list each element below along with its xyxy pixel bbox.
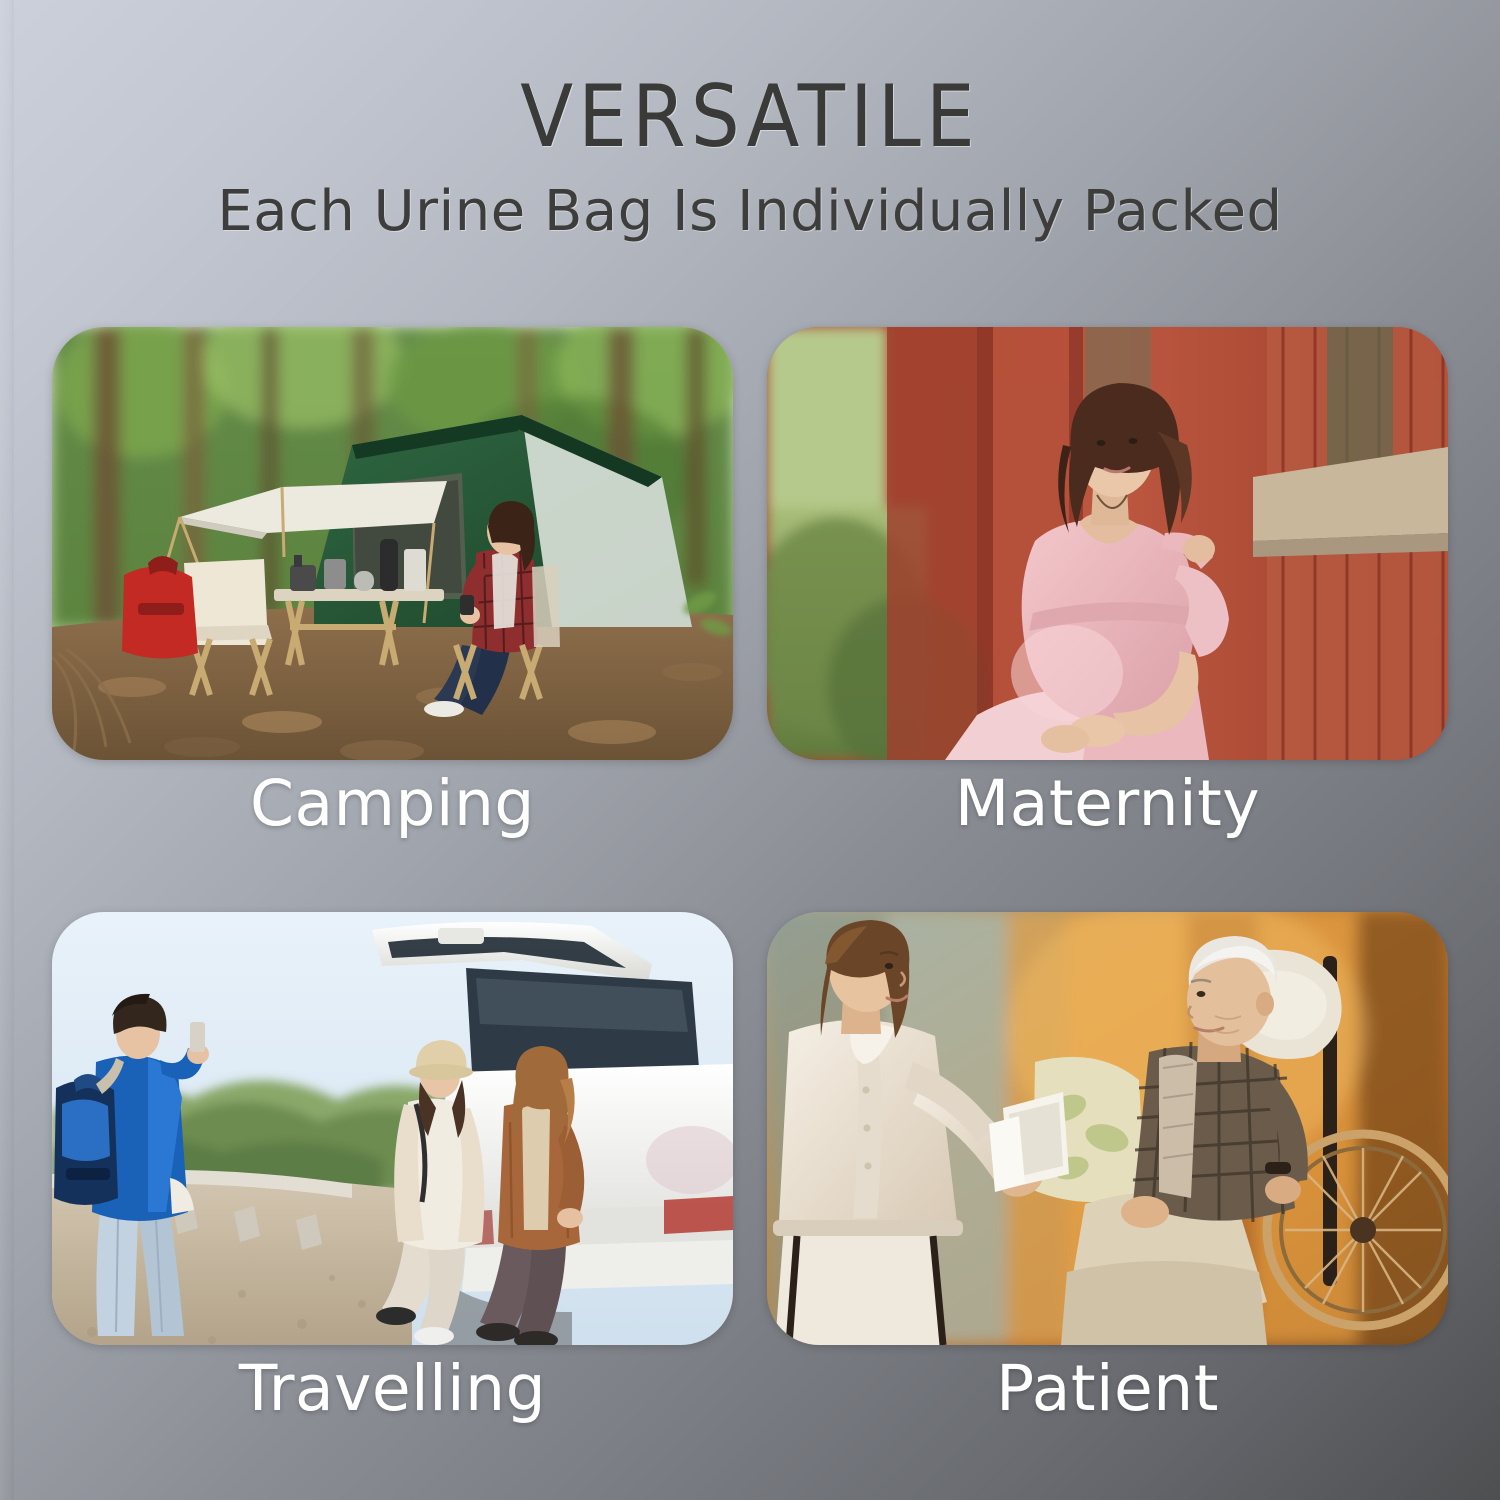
poster-root: VERSATILE Each Urine Bag Is Individually…	[0, 0, 1500, 1500]
caption-travelling: Travelling	[52, 1357, 733, 1420]
page-subtitle: Each Urine Bag Is Individually Packed	[0, 181, 1500, 243]
page-title: VERSATILE	[0, 72, 1500, 163]
header-block: VERSATILE Each Urine Bag Is Individually…	[0, 72, 1500, 243]
caption-patient: Patient	[767, 1357, 1448, 1420]
use-case-card-travelling: Travelling	[52, 912, 733, 1345]
use-case-card-maternity: Maternity	[767, 327, 1448, 760]
use-case-card-camping: Camping	[52, 327, 733, 760]
travelling-photo	[52, 912, 733, 1345]
maternity-photo	[767, 327, 1448, 760]
caption-camping: Camping	[52, 772, 733, 835]
caption-maternity: Maternity	[767, 772, 1448, 835]
use-case-card-patient: Patient	[767, 912, 1448, 1345]
use-case-grid: Camping	[52, 327, 1448, 1447]
patient-photo	[767, 912, 1448, 1345]
camping-photo	[52, 327, 733, 760]
